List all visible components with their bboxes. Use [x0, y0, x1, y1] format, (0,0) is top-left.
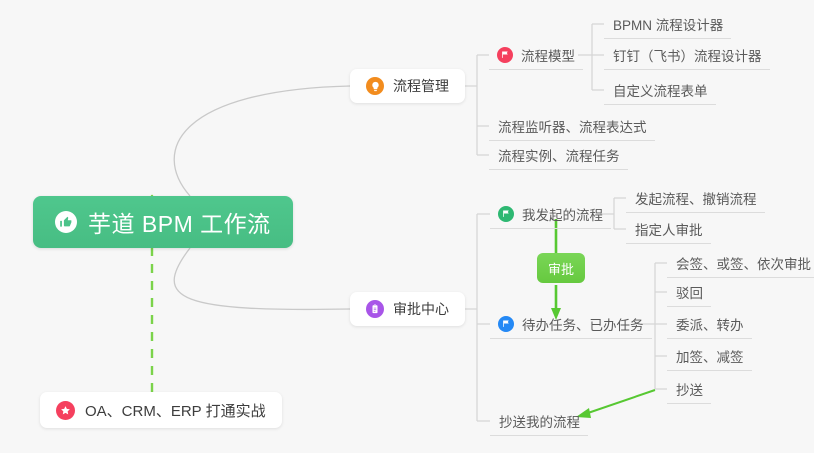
root-node[interactable]: 芋道 BPM 工作流	[33, 196, 293, 248]
node-label: 流程监听器、流程表达式	[498, 116, 647, 136]
branch-node-approval-center[interactable]: 审批中心	[350, 292, 465, 326]
node-dingtalk-feishu-designer[interactable]: 钉钉（飞书）流程设计器	[604, 40, 770, 70]
node-label: 会签、或签、依次审批	[676, 253, 811, 273]
node-label: 流程实例、流程任务	[498, 145, 620, 165]
node-process-model[interactable]: 流程模型	[489, 40, 583, 70]
node-reject[interactable]: 驳回	[667, 277, 711, 307]
node-label: 加签、减签	[676, 346, 744, 366]
link-root-to-approval-center	[174, 248, 350, 309]
cc-arrow-line	[585, 390, 655, 414]
flag-icon	[498, 206, 514, 222]
node-label: 流程模型	[521, 45, 575, 65]
node-delegate-transfer[interactable]: 委派、转办	[667, 309, 752, 339]
branch-node-process-management[interactable]: 流程管理	[350, 69, 465, 103]
node-label: 待办任务、已办任务	[522, 314, 644, 334]
node-cc[interactable]: 抄送	[667, 374, 711, 404]
link-root-to-process-management	[174, 86, 350, 196]
node-label: 发起流程、撤销流程	[635, 188, 757, 208]
node-start-cancel-process[interactable]: 发起流程、撤销流程	[626, 183, 765, 213]
node-label: 抄送	[676, 379, 703, 399]
thumbs-up-icon	[55, 211, 77, 233]
lightbulb-icon	[366, 77, 384, 95]
branch-label: 审批中心	[393, 299, 449, 319]
node-label: 我发起的流程	[522, 204, 603, 224]
node-label: 驳回	[676, 282, 703, 302]
clipboard-icon	[366, 300, 384, 318]
node-assignee-approval[interactable]: 指定人审批	[626, 214, 711, 244]
node-cc-to-me-processes[interactable]: 抄送我的流程	[490, 406, 588, 436]
root-label: 芋道 BPM 工作流	[88, 205, 271, 239]
node-bpmn-designer[interactable]: BPMN 流程设计器	[604, 9, 731, 39]
flow-annotation-approval: 审批	[537, 253, 585, 283]
branch-label: 流程管理	[393, 76, 449, 96]
node-todo-done-tasks[interactable]: 待办任务、已办任务	[490, 309, 652, 339]
node-process-instance-task[interactable]: 流程实例、流程任务	[489, 140, 628, 170]
node-my-initiated-processes[interactable]: 我发起的流程	[490, 199, 611, 229]
node-add-remove-signer[interactable]: 加签、减签	[667, 341, 752, 371]
node-label: 钉钉（飞书）流程设计器	[613, 45, 762, 65]
note-node-integration[interactable]: OA、CRM、ERP 打通实战	[40, 392, 282, 428]
note-label: OA、CRM、ERP 打通实战	[85, 400, 266, 421]
node-label: 抄送我的流程	[499, 411, 580, 431]
node-label: 自定义流程表单	[613, 80, 708, 100]
node-custom-process-form[interactable]: 自定义流程表单	[604, 75, 716, 105]
flow-annotation-label: 审批	[548, 259, 574, 278]
mindmap-canvas: 芋道 BPM 工作流 流程管理 流程模型 BPMN 流程设计器 钉钉（飞书）流程…	[0, 0, 814, 453]
flag-icon	[497, 47, 513, 63]
node-process-listener-expression[interactable]: 流程监听器、流程表达式	[489, 111, 655, 141]
star-icon	[56, 401, 75, 420]
node-label: 指定人审批	[635, 219, 703, 239]
node-label: BPMN 流程设计器	[613, 14, 723, 34]
node-countersign-orsign-sequential[interactable]: 会签、或签、依次审批	[667, 248, 814, 278]
node-label: 委派、转办	[676, 314, 744, 334]
flag-icon	[498, 316, 514, 332]
